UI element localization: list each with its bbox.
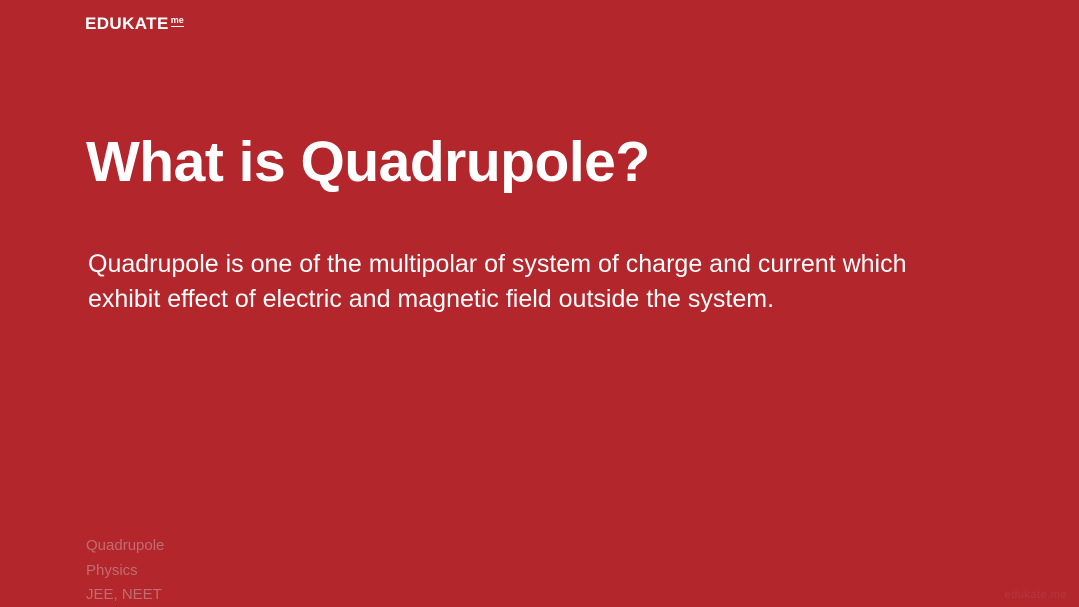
footer-tag: Physics xyxy=(86,562,164,579)
footer-tag-list: Quadrupole Physics JEE, NEET xyxy=(86,537,164,603)
footer-tag: JEE, NEET xyxy=(86,586,164,603)
brand-name: EDUKATE xyxy=(85,15,169,32)
slide-body-text: Quadrupole is one of the multipolar of s… xyxy=(88,247,968,316)
slide-title: What is Quadrupole? xyxy=(86,132,986,194)
watermark-label: edukate.me xyxy=(1005,589,1067,601)
slide-canvas: EDUKATE me What is Quadrupole? Quadrupol… xyxy=(0,0,1079,607)
brand-suffix: me xyxy=(171,16,184,27)
footer-tag: Quadrupole xyxy=(86,537,164,554)
brand-logo[interactable]: EDUKATE me xyxy=(85,15,184,32)
